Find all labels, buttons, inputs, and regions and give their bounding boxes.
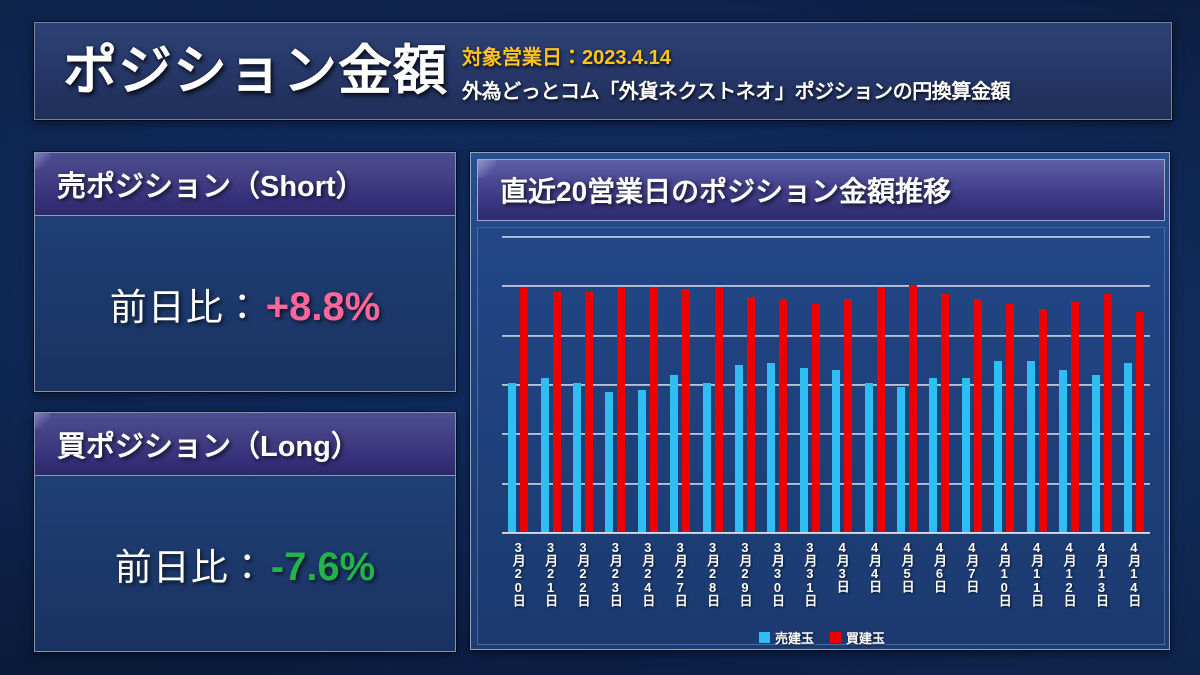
long-change-row: 前日比： -7.6% [115, 537, 376, 591]
x-axis-label: 4月6日 [930, 540, 949, 624]
bar-group [632, 238, 664, 532]
bar-short [929, 378, 937, 532]
bar-group [1021, 238, 1053, 532]
bar-short [638, 390, 646, 532]
bar-long [682, 289, 690, 532]
bar-group [599, 238, 631, 532]
bar-long [812, 304, 820, 532]
bar-long [650, 287, 658, 532]
long-position-card-header: 買ポジション（Long） [35, 413, 455, 476]
x-axis-label: 4月3日 [833, 540, 852, 624]
bar-short [767, 363, 775, 532]
x-axis-label-cell: 3月27日 [664, 540, 696, 624]
x-axis-label-cell: 3月24日 [632, 540, 664, 624]
bar-long [844, 299, 852, 532]
bar-long [974, 299, 982, 532]
bar-short [1124, 363, 1132, 532]
x-axis-label-cell: 3月20日 [502, 540, 534, 624]
x-axis-label-cell: 4月10日 [988, 540, 1020, 624]
bar-short [508, 383, 516, 532]
legend-swatch-icon [830, 632, 841, 643]
x-axis-label: 4月12日 [1060, 540, 1079, 624]
x-axis-label-cell: 3月31日 [794, 540, 826, 624]
x-axis-label-cell: 4月5日 [891, 540, 923, 624]
legend-label: 買建玉 [846, 628, 885, 647]
x-axis-label-cell: 4月3日 [826, 540, 858, 624]
x-axis-label: 3月22日 [574, 540, 593, 624]
x-axis-label: 4月7日 [962, 540, 981, 624]
x-axis-label-cell: 4月6日 [923, 540, 955, 624]
x-axis-label-cell: 4月14日 [1118, 540, 1150, 624]
bar-short [800, 368, 808, 532]
x-axis-label: 3月29日 [736, 540, 755, 624]
short-change-row: 前日比： +8.8% [110, 277, 381, 331]
bar-short [541, 378, 549, 532]
bar-short [1027, 361, 1035, 533]
bar-group [826, 238, 858, 532]
x-axis-label: 4月4日 [865, 540, 884, 624]
bar-long [1039, 309, 1047, 532]
bar-long [585, 292, 593, 532]
x-axis-label: 3月20日 [509, 540, 528, 624]
bar-group [729, 238, 761, 532]
bar-long [520, 287, 528, 532]
bar-short [573, 383, 581, 532]
chart-legend: 売建玉買建玉 [478, 628, 1166, 647]
bar-long [941, 294, 949, 532]
bar-short [670, 375, 678, 532]
bar-group [1085, 238, 1117, 532]
x-axis-label-cell: 3月29日 [729, 540, 761, 624]
x-axis-line [502, 532, 1150, 534]
position-trend-panel: 直近20営業日のポジション金額推移 3月20日3月21日3月22日3月23日3月… [470, 152, 1170, 650]
screen-root: ポジション金額 対象営業日：2023.4.14 外為どっとコム「外貨ネクストネオ… [0, 0, 1200, 675]
x-axis-label: 4月11日 [1027, 540, 1046, 624]
bar-group [858, 238, 890, 532]
bar-short [605, 392, 613, 532]
bar-long [617, 287, 625, 532]
bar-group [988, 238, 1020, 532]
x-axis-label: 3月21日 [541, 540, 560, 624]
x-axis-label-cell: 3月22日 [567, 540, 599, 624]
x-axis-labels: 3月20日3月21日3月22日3月23日3月24日3月27日3月28日3月29日… [502, 540, 1150, 624]
short-position-card: 売ポジション（Short） 前日比： +8.8% [34, 152, 456, 392]
x-axis-label: 4月13日 [1092, 540, 1111, 624]
bar-group [1053, 238, 1085, 532]
bar-long [779, 299, 787, 532]
legend-item: 売建玉 [759, 628, 814, 647]
bar-group [891, 238, 923, 532]
bar-group [1118, 238, 1150, 532]
bar-group [567, 238, 599, 532]
x-axis-label-cell: 3月21日 [534, 540, 566, 624]
long-position-card: 買ポジション（Long） 前日比： -7.6% [34, 412, 456, 652]
short-change-label: 前日比： [110, 277, 262, 331]
bar-long [1071, 302, 1079, 532]
bar-short [1092, 375, 1100, 532]
long-change-value: -7.6% [271, 545, 376, 590]
bar-group [761, 238, 793, 532]
bar-long [909, 285, 917, 532]
bar-group [794, 238, 826, 532]
header-subtitle: 外為どっとコム「外貨ネクストネオ」ポジションの円換算金額 [462, 75, 1010, 104]
bar-series-container [502, 238, 1150, 532]
x-axis-label-cell: 4月13日 [1085, 540, 1117, 624]
x-axis-label: 4月5日 [898, 540, 917, 624]
bar-long [553, 292, 561, 532]
bar-group [664, 238, 696, 532]
bar-long [715, 287, 723, 532]
bar-long [1006, 304, 1014, 532]
bar-group [956, 238, 988, 532]
position-trend-heading: 直近20営業日のポジション金額推移 [500, 170, 951, 210]
x-axis-label-cell: 3月23日 [599, 540, 631, 624]
bar-chart: 3月20日3月21日3月22日3月23日3月24日3月27日3月28日3月29日… [477, 227, 1165, 645]
bar-long [1104, 294, 1112, 532]
bar-short [735, 365, 743, 532]
x-axis-label-cell: 3月28日 [696, 540, 728, 624]
bar-short [897, 387, 905, 532]
short-change-value: +8.8% [266, 285, 381, 330]
short-position-card-body: 前日比： +8.8% [35, 216, 455, 391]
x-axis-label: 3月27日 [671, 540, 690, 624]
bar-short [832, 370, 840, 532]
bar-long [877, 287, 885, 532]
x-axis-label-cell: 4月7日 [956, 540, 988, 624]
bar-group [534, 238, 566, 532]
bar-long [1136, 312, 1144, 533]
bar-group [696, 238, 728, 532]
short-position-card-header: 売ポジション（Short） [35, 153, 455, 216]
bar-long [747, 297, 755, 532]
page-title: ポジション金額 [63, 44, 448, 98]
bar-group [502, 238, 534, 532]
x-axis-label: 3月23日 [606, 540, 625, 624]
position-trend-panel-header: 直近20営業日のポジション金額推移 [477, 159, 1165, 221]
long-position-card-body: 前日比： -7.6% [35, 476, 455, 651]
legend-item: 買建玉 [830, 628, 885, 647]
x-axis-label: 4月14日 [1124, 540, 1143, 624]
long-position-heading: 買ポジション（Long） [57, 423, 360, 465]
legend-swatch-icon [759, 632, 770, 643]
page-header: ポジション金額 対象営業日：2023.4.14 外為どっとコム「外貨ネクストネオ… [34, 22, 1172, 120]
bar-short [703, 383, 711, 532]
legend-label: 売建玉 [775, 628, 814, 647]
x-axis-label-cell: 4月12日 [1053, 540, 1085, 624]
x-axis-label: 3月24日 [638, 540, 657, 624]
x-axis-label: 3月28日 [703, 540, 722, 624]
bar-short [994, 361, 1002, 533]
bar-short [1059, 370, 1067, 532]
x-axis-label: 3月30日 [768, 540, 787, 624]
bar-short [962, 378, 970, 532]
x-axis-label-cell: 3月30日 [761, 540, 793, 624]
x-axis-label-cell: 4月11日 [1021, 540, 1053, 624]
x-axis-label: 4月10日 [995, 540, 1014, 624]
x-axis-label-cell: 4月4日 [858, 540, 890, 624]
bar-short [865, 383, 873, 532]
bar-group [923, 238, 955, 532]
plot-area [502, 238, 1150, 534]
short-position-heading: 売ポジション（Short） [57, 163, 365, 205]
long-change-label: 前日比： [115, 537, 267, 591]
target-business-date: 対象営業日：2023.4.14 [462, 41, 1010, 70]
x-axis-label: 3月31日 [800, 540, 819, 624]
header-meta: 対象営業日：2023.4.14 外為どっとコム「外貨ネクストネオ」ポジションの円… [462, 41, 1010, 104]
